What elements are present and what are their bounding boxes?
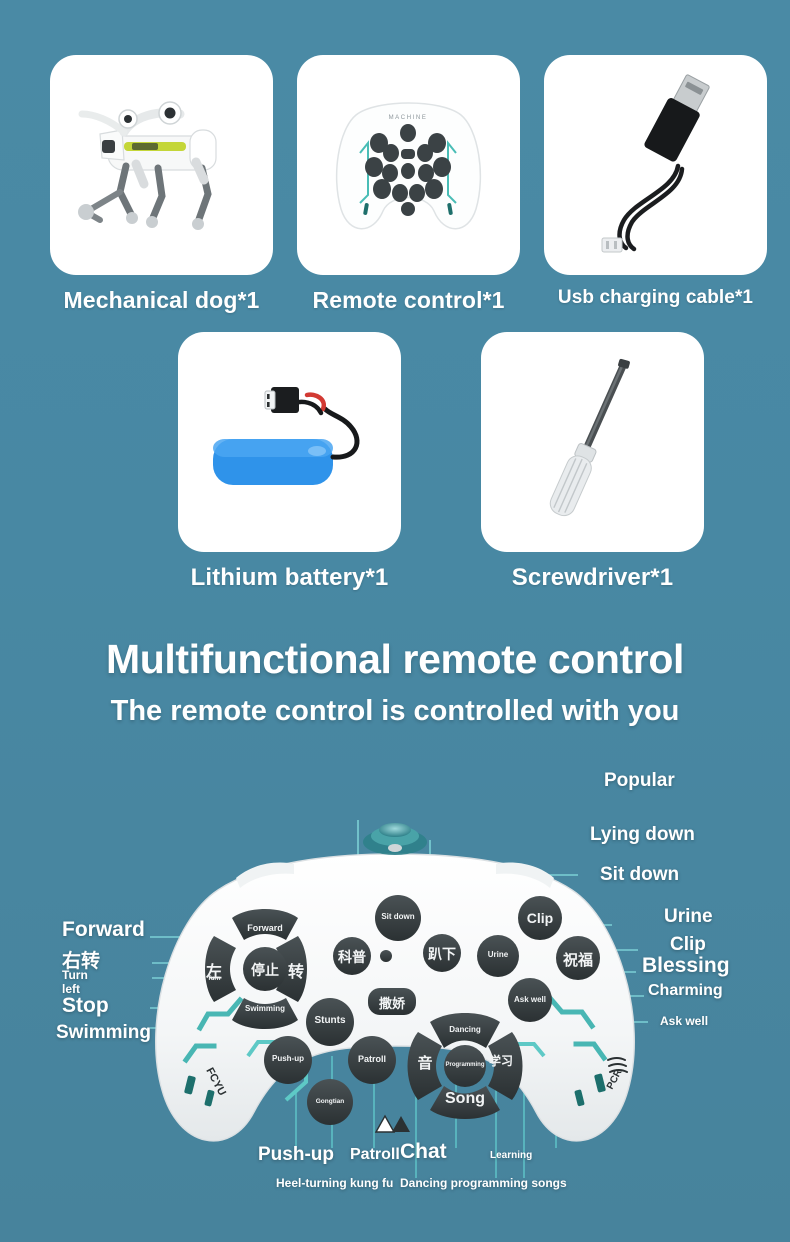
callout-popular: Popular	[604, 770, 675, 792]
gamepad-icon: MACHINE	[316, 75, 501, 255]
screwdriver-icon	[498, 352, 688, 532]
triangle-logo	[376, 1116, 410, 1132]
callout-turn: Turn	[62, 968, 88, 982]
accessory-image-card: MACHINE	[297, 55, 520, 275]
callout-lying-down: Lying down	[590, 824, 695, 846]
accessory-label: Usb charging cable*1	[558, 287, 753, 309]
callout-urine: Urine	[664, 906, 713, 928]
callout-swimming: Swimming	[56, 1022, 151, 1044]
accessory-image-card	[178, 332, 401, 552]
callout-push-up: Push-up	[258, 1144, 334, 1166]
accessory-image-card	[481, 332, 704, 552]
accessory-label: Screwdriver*1	[512, 564, 673, 592]
accessory-item-screwdriver: Screwdriver*1	[481, 332, 704, 592]
callout-stop: Stop	[62, 994, 109, 1018]
callout-heel-turning-kung-fu: Heel-turning kung fu	[276, 1176, 393, 1190]
headings-block: Multifunctional remote control The remot…	[0, 636, 790, 728]
accessory-item-lithium-battery: Lithium battery*1	[178, 332, 401, 592]
page-title: Multifunctional remote control	[0, 636, 790, 683]
callout-patroll: Patroll	[350, 1146, 400, 1164]
callout-chat: Chat	[400, 1140, 447, 1164]
battery-icon	[195, 357, 385, 527]
controller-body: FCYU PCR	[156, 823, 635, 1141]
robot-dog-icon	[62, 80, 262, 250]
accessory-label: Mechanical dog*1	[64, 287, 260, 314]
callout-sit-down: Sit down	[600, 864, 679, 886]
callout-charming: Charming	[648, 982, 723, 1000]
callout-learning: Learning	[490, 1150, 532, 1161]
joystick	[363, 823, 427, 855]
accessory-label: Remote control*1	[312, 287, 504, 314]
controller-diagram: FCYU PCR	[0, 760, 790, 1242]
accessory-item-mechanical-dog: Mechanical dog*1	[50, 55, 273, 314]
accessory-row-1: Mechanical dog*1 MACHINE	[50, 55, 767, 314]
callout-forward: Forward	[62, 918, 145, 942]
callout-dancing-programming-songs: Dancing programming songs	[400, 1176, 567, 1190]
accessory-item-remote-control: MACHINE	[297, 55, 520, 314]
accessory-item-usb-cable: Usb charging cable*1	[544, 55, 767, 314]
page-subtitle: The remote control is controlled with yo…	[0, 695, 790, 728]
callout-ask-well: Ask well	[660, 1014, 708, 1028]
accessory-image-card	[50, 55, 273, 275]
callout-clip: Clip	[670, 934, 706, 956]
accessory-row-2: Lithium battery*1	[178, 332, 704, 592]
svg-text:MACHINE: MACHINE	[389, 115, 428, 121]
usb-cable-icon	[566, 70, 746, 260]
accessory-label: Lithium battery*1	[191, 564, 389, 592]
infographic-page: Mechanical dog*1 MACHINE	[0, 0, 790, 1242]
accessory-image-card	[544, 55, 767, 275]
callout-blessing: Blessing	[642, 954, 730, 978]
